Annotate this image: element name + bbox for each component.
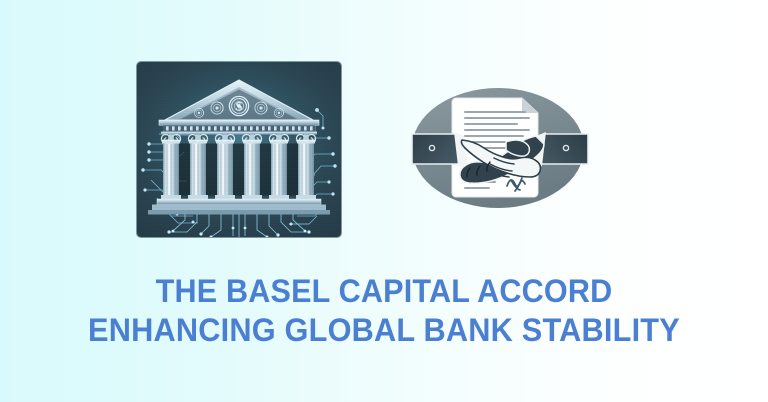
title-line-2: ENHANCING GLOBAL BANK STABILITY <box>15 311 752 350</box>
stylobate <box>148 199 330 215</box>
left-arm <box>412 132 468 168</box>
title-line-1: THE BASEL CAPITAL ACCORD <box>17 272 750 311</box>
bank-temple-graphic: $ <box>137 62 341 237</box>
poster-title: THE BASEL CAPITAL ACCORD ENHANCING GLOBA… <box>0 272 768 350</box>
handshake-graphic <box>410 82 590 214</box>
dollar-emblem: $ <box>236 99 243 114</box>
handshake-agreement-illustration <box>410 82 590 214</box>
colonnade <box>161 134 316 199</box>
poster-canvas: $ <box>0 0 768 402</box>
digital-bank-illustration: $ <box>137 62 341 237</box>
